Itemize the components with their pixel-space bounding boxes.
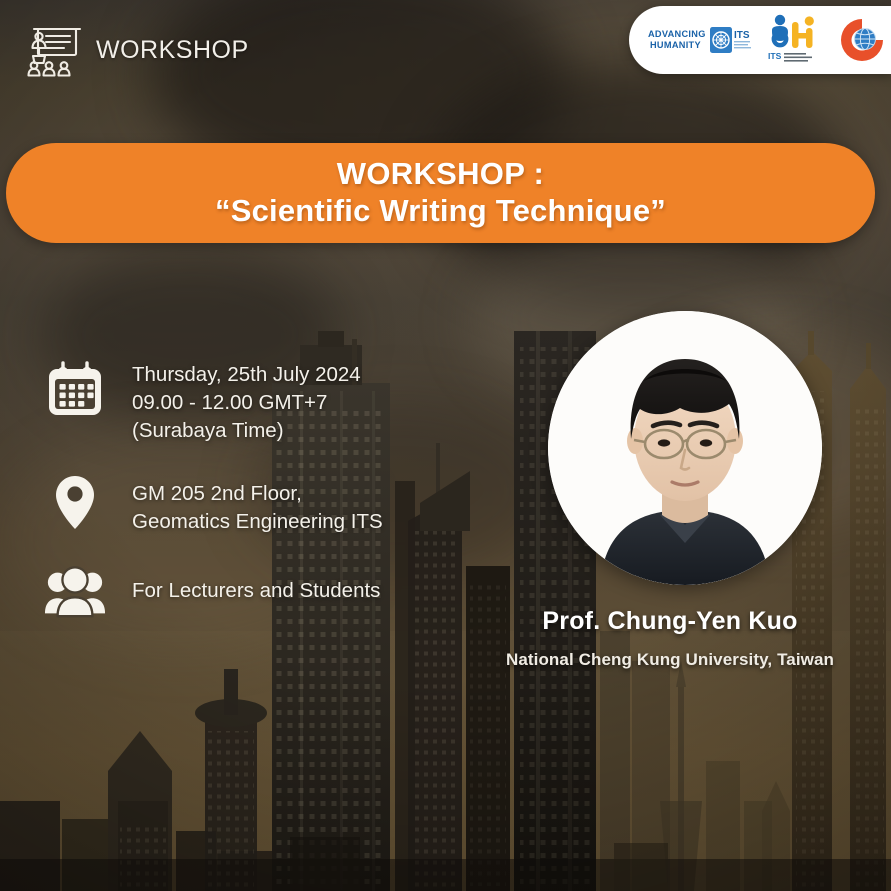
workshop-badge-label: WORKSHOP <box>96 36 249 65</box>
speaker-affiliation: National Cheng Kung University, Taiwan <box>450 650 890 670</box>
svg-text:ITS: ITS <box>734 30 750 41</box>
detail-audience-text: For Lecturers and Students <box>132 561 380 605</box>
title-line-1: WORKSHOP : <box>337 157 544 192</box>
workshop-presentation-icon <box>22 22 82 78</box>
svg-text:ITS: ITS <box>768 51 782 61</box>
workshop-badge: WORKSHOP <box>22 22 249 78</box>
svg-text:ADVANCING: ADVANCING <box>648 29 706 39</box>
detail-datetime-text: Thursday, 25th July 2024 09.00 - 12.00 G… <box>132 358 361 445</box>
workshop-title-banner: WORKSHOP : “Scientific Writing Technique… <box>6 143 875 243</box>
speaker-name: Prof. Chung-Yen Kuo <box>450 607 890 636</box>
top-bar: WORKSHOP ADVANCING HUMANITY <box>0 0 891 88</box>
orange-globe-logo <box>838 16 886 64</box>
title-line-2: “Scientific Writing Technique” <box>215 192 666 229</box>
detail-datetime: Thursday, 25th July 2024 09.00 - 12.00 G… <box>44 358 484 445</box>
its-global-health-product-logo: ITS <box>766 12 824 68</box>
calendar-icon <box>44 358 106 420</box>
detail-audience: For Lecturers and Students <box>44 561 484 623</box>
speaker-portrait <box>548 311 822 585</box>
svg-text:HUMANITY: HUMANITY <box>650 40 701 50</box>
poster-canvas: WORKSHOP ADVANCING HUMANITY <box>0 0 891 891</box>
detail-venue: GM 205 2nd Floor, Geomatics Engineering … <box>44 471 484 536</box>
event-details-list: Thursday, 25th July 2024 09.00 - 12.00 G… <box>44 358 484 649</box>
advancing-humanity-its-logo: ADVANCING HUMANITY ITS <box>648 20 752 60</box>
location-pin-icon <box>44 471 106 533</box>
people-group-icon <box>44 561 106 623</box>
detail-venue-text: GM 205 2nd Floor, Geomatics Engineering … <box>132 471 383 536</box>
partner-logos-pill: ADVANCING HUMANITY ITS <box>629 6 891 74</box>
